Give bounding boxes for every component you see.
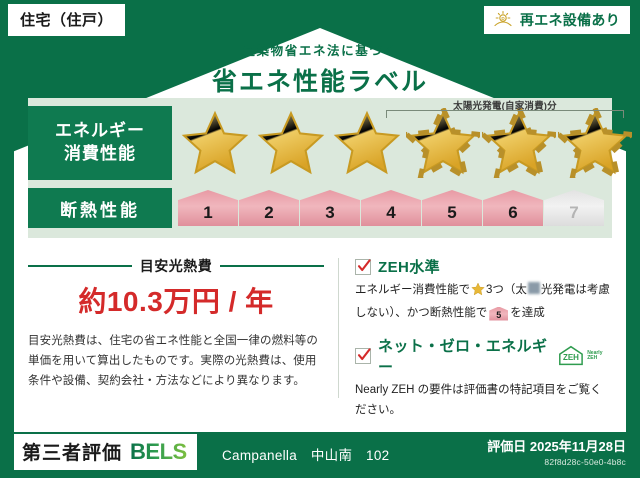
insulation-performance-label: 断熱性能 <box>28 188 172 228</box>
insulation-performance-row: 断熱性能 1234567 <box>28 188 612 228</box>
star-solar <box>558 108 632 178</box>
renewable-energy-badge: D 再エネ設備あり <box>484 6 630 34</box>
net-zero-energy-block: ネット・ゼロ・エネルギー ZEH Nearly ZEH Nearly ZEH の… <box>355 335 612 420</box>
cost-rule-right <box>220 265 324 267</box>
energy-label-line2: 消費性能 <box>64 143 136 166</box>
insulation-level-scale: 1234567 <box>172 190 612 226</box>
energy-performance-row: エネルギー 消費性能 太陽光発電(自家消費)分 <box>28 106 612 180</box>
inline-insulation-chip: 5 <box>489 307 508 321</box>
label-footer: 第三者評価 BELS Campanella 中山南 102 評価日 2025年1… <box>0 432 640 478</box>
check-icon <box>356 347 372 363</box>
insulation-chip-4: 4 <box>361 190 421 226</box>
zeh-standard-block: ZEH水準 エネルギー消費性能で3つ（太光発電は考慮しない）、かつ断熱性能で5を… <box>355 256 612 323</box>
sun-solar-icon: D <box>492 10 514 30</box>
check-icon <box>356 258 372 274</box>
property-name: Campanella 中山南 102 <box>222 444 389 464</box>
label-title-group: 建築物省エネ法に基づく 省エネ性能ラベル <box>0 40 640 98</box>
star-base <box>254 108 328 178</box>
solar-bracket <box>386 110 624 118</box>
star-solar <box>482 108 556 178</box>
label-subtitle: 建築物省エネ法に基づく <box>0 40 640 59</box>
net-zero-heading: ネット・ゼロ・エネルギー ZEH Nearly ZEH <box>355 335 612 377</box>
zeh-standard-title: ZEH水準 <box>378 256 440 277</box>
insulation-chip-7: 7 <box>544 190 604 226</box>
label-details-section: 目安光熱費 約10.3万円 / 年 目安光熱費は、住宅の省エネ性能と全国一律の燃… <box>28 256 612 406</box>
insulation-chip-1: 1 <box>178 190 238 226</box>
insulation-chip-5: 5 <box>422 190 482 226</box>
zeh-logo: ZEH Nearly ZEH <box>557 344 612 368</box>
energy-performance-label: 住宅（住戸） D 再エネ設備あり 建築物省エネ法に基づく 省エネ性能ラベル エネ… <box>0 0 640 478</box>
cost-heading-label: 目安光熱費 <box>140 256 213 276</box>
zeh-standard-heading: ZEH水準 <box>355 256 612 277</box>
cost-rule-left <box>28 265 132 267</box>
utility-cost-value: 約10.3万円 / 年 <box>28 280 324 320</box>
zeh-text-part2: 3つ（太 <box>486 284 527 296</box>
insulation-chip-3: 3 <box>300 190 360 226</box>
zeh-text-part1: エネルギー消費性能で <box>355 284 470 296</box>
zeh-house-logo-icon: ZEH <box>557 344 585 368</box>
zeh-column: ZEH水準 エネルギー消費性能で3つ（太光発電は考慮しない）、かつ断熱性能で5を… <box>339 256 612 406</box>
insulation-chip-6: 6 <box>483 190 543 226</box>
insulation-chip-2: 2 <box>239 190 299 226</box>
inline-star-icon <box>471 282 485 304</box>
net-zero-title: ネット・ゼロ・エネルギー <box>378 335 550 377</box>
net-zero-checkbox <box>355 348 371 364</box>
star-base <box>178 108 252 178</box>
utility-cost-heading: 目安光熱費 <box>28 256 324 276</box>
energy-stars-area: 太陽光発電(自家消費)分 <box>172 108 632 178</box>
star-base <box>330 108 404 178</box>
bels-jp-label: 第三者評価 <box>22 438 122 465</box>
utility-cost-column: 目安光熱費 約10.3万円 / 年 目安光熱費は、住宅の省エネ性能と全国一律の燃… <box>28 256 338 406</box>
bels-certification-badge: 第三者評価 BELS <box>14 434 197 470</box>
energy-performance-label: エネルギー 消費性能 <box>28 106 172 180</box>
evaluation-date: 評価日 2025年11月28日 <box>487 436 626 455</box>
evaluation-id: 82f8d28c-50e0-4b8c <box>487 457 626 467</box>
renewable-badge-label: 再エネ設備あり <box>520 10 620 30</box>
star-solar <box>406 108 480 178</box>
building-type-badge: 住宅（住戸） <box>8 4 125 36</box>
net-zero-text: Nearly ZEH の要件は評価書の特記項目をご覧ください。 <box>355 381 612 420</box>
zeh-text-part4: を達成 <box>510 307 545 319</box>
svg-text:ZEH: ZEH <box>563 353 579 362</box>
bels-logo-text: BELS <box>130 439 187 465</box>
energy-label-line1: エネルギー <box>55 120 145 143</box>
ratings-panel: エネルギー 消費性能 太陽光発電(自家消費)分 断熱性能 1234567 <box>28 98 612 238</box>
utility-cost-note: 目安光熱費は、住宅の省エネ性能と全国一律の燃料等の単価を用いて算出したものです。… <box>28 332 324 391</box>
insulation-chips-area: 1234567 <box>172 190 612 226</box>
energy-star-rating <box>172 108 632 178</box>
redacted-character <box>528 282 540 294</box>
zeh-logo-subtext: Nearly ZEH <box>587 351 612 362</box>
label-title: 省エネ性能ラベル <box>0 62 640 98</box>
evaluation-info: 評価日 2025年11月28日 82f8d28c-50e0-4b8c <box>487 436 626 467</box>
zeh-standard-checkbox <box>355 259 371 275</box>
zeh-standard-text: エネルギー消費性能で3つ（太光発電は考慮しない）、かつ断熱性能で5を達成 <box>355 281 612 323</box>
